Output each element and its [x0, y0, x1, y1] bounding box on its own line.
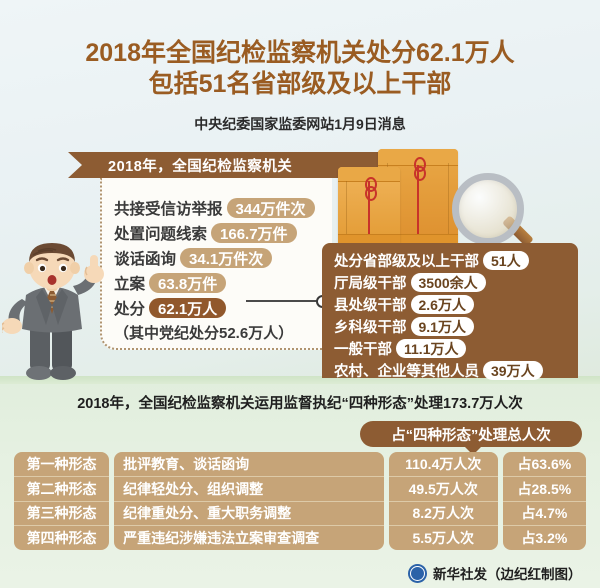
xinhua-logo-icon — [408, 564, 427, 583]
breakdown-value-pill: 39万人 — [483, 361, 543, 380]
table-cell-count: 8.2万人次 — [389, 502, 498, 527]
table-column-form: 第一种形态 第二种形态 第三种形态 第四种形态 — [14, 452, 109, 550]
table-cell-description: 批评教育、谈话函询 — [114, 452, 384, 477]
stat-value-pill-highlighted: 62.1万人 — [149, 298, 226, 318]
envelope-seam-front — [346, 181, 347, 235]
table-column-count: 110.4万人次 49.5万人次 8.2万人次 5.5万人次 — [389, 452, 498, 550]
table-cell-form: 第二种形态 — [14, 477, 109, 502]
breakdown-row: 农村、企业等其他人员 39万人 — [334, 360, 580, 381]
stat-value-pill: 344万件次 — [227, 198, 315, 218]
breakdown-label: 处分省部级及以上干部 — [334, 250, 479, 271]
breakdown-value-pill: 9.1万人 — [411, 317, 474, 336]
table-cell-percentage: 占4.7% — [503, 502, 586, 527]
table-cell-count: 5.5万人次 — [389, 526, 498, 550]
breakdown-row: 处分省部级及以上干部 51人 — [334, 250, 580, 271]
bottom-heading: 2018年，全国纪检监察机关运用监督执纪“四种形态”处理173.7万人次 — [0, 392, 600, 413]
table-cell-form: 第四种形态 — [14, 526, 109, 550]
table-cell-percentage: 占3.2% — [503, 526, 586, 550]
magnifier-lens — [452, 173, 524, 245]
table-cell-form: 第三种形态 — [14, 502, 109, 527]
magnifying-glass-icon — [452, 173, 532, 253]
page-subtitle: 中央纪委国家监委网站1月9日消息 — [0, 114, 600, 134]
page-title: 2018年全国纪检监察机关处分62.1万人 包括51名省部级及以上干部 — [0, 38, 600, 100]
businessman-pointing-icon — [2, 243, 120, 383]
envelope-front-icon — [338, 167, 400, 247]
sealed-envelopes-icon — [330, 145, 580, 255]
title-line-2: 包括51名省部级及以上干部 — [0, 69, 600, 100]
table-column-percentage: 占63.6% 占28.5% 占4.7% 占3.2% — [503, 452, 586, 550]
stat-value-pill: 34.1万件次 — [180, 248, 272, 268]
breakdown-label: 一般干部 — [334, 338, 392, 359]
breakdown-value-pill: 51人 — [483, 251, 529, 270]
breakdown-label: 县处级干部 — [334, 294, 407, 315]
table-column-description: 批评教育、谈话函询 纪律轻处分、组织调整 纪律重处分、重大职务调整 严重违纪涉嫌… — [114, 452, 384, 550]
left-stats-list: 共接受信访举报 344万件次 处置问题线索 166.7万件 谈话函询 34.1万… — [114, 196, 344, 343]
section-ribbon-banner: 2018年，全国纪检监察机关 — [68, 152, 368, 178]
breakdown-label: 乡科级干部 — [334, 316, 407, 337]
four-forms-table: 第一种形态 第二种形态 第三种形态 第四种形态 批评教育、谈话函询 纪律轻处分、… — [14, 452, 586, 550]
envelope-seam-2 — [448, 163, 449, 235]
credit-line: 新华社发（边纪红制图） — [408, 562, 588, 584]
breakdown-row: 县处级干部 2.6万人 — [334, 294, 580, 315]
breakdown-row: 乡科级干部 9.1万人 — [334, 316, 580, 337]
breakdown-label: 农村、企业等其他人员 — [334, 360, 479, 381]
stat-value-pill: 166.7万件 — [211, 223, 297, 243]
breakdown-value-pill: 11.1万人 — [396, 339, 466, 358]
table-cell-count: 110.4万人次 — [389, 452, 498, 477]
envelope-knot-2 — [414, 166, 426, 181]
credit-text: 新华社发（边纪红制图） — [433, 563, 582, 583]
stat-row: 处置问题线索 166.7万件 — [114, 221, 344, 245]
breakdown-label: 厅局级干部 — [334, 272, 407, 293]
stat-label: 谈话函询 — [114, 247, 176, 269]
breakdown-row: 一般干部 11.1万人 — [334, 338, 580, 359]
stat-value-pill: 63.8万件 — [149, 273, 226, 293]
infographic-root: 2018年全国纪检监察机关处分62.1万人 包括51名省部级及以上干部 中央纪委… — [0, 0, 600, 588]
table-cell-percentage: 占63.6% — [503, 452, 586, 477]
connector-line — [246, 300, 320, 302]
table-cell-form: 第一种形态 — [14, 452, 109, 477]
breakdown-value-pill: 3500余人 — [411, 273, 486, 292]
stat-row: 共接受信访举报 344万件次 — [114, 196, 344, 220]
ribbon-label: 2018年，全国纪检监察机关 — [108, 155, 292, 176]
table-cell-count: 49.5万人次 — [389, 477, 498, 502]
breakdown-value-pill: 2.6万人 — [411, 295, 474, 314]
table-cell-percentage: 占28.5% — [503, 477, 586, 502]
stat-label: 处置问题线索 — [114, 222, 207, 244]
right-breakdown-list: 处分省部级及以上干部 51人 厅局级干部 3500余人 县处级干部 2.6万人 … — [334, 250, 580, 382]
table-cell-description: 纪律重处分、重大职务调整 — [114, 502, 384, 527]
breakdown-row: 厅局级干部 3500余人 — [334, 272, 580, 293]
stat-row: 立案 63.8万件 — [114, 271, 344, 295]
table-cell-description: 纪律轻处分、组织调整 — [114, 477, 384, 502]
title-line-1: 2018年全国纪检监察机关处分62.1万人 — [85, 39, 514, 67]
table-cell-description: 严重违纪涉嫌违法立案审查调查 — [114, 526, 384, 550]
envelope-knot-front-2 — [365, 186, 377, 201]
stat-row: 谈话函询 34.1万件次 — [114, 246, 344, 270]
percentage-banner-label: 占“四种形态”处理总人次 — [391, 424, 551, 445]
percentage-column-banner: 占“四种形态”处理总人次 — [360, 421, 582, 447]
left-stats-note: （其中党纪处分52.6万人） — [114, 322, 344, 343]
stat-label: 共接受信访举报 — [114, 197, 223, 219]
